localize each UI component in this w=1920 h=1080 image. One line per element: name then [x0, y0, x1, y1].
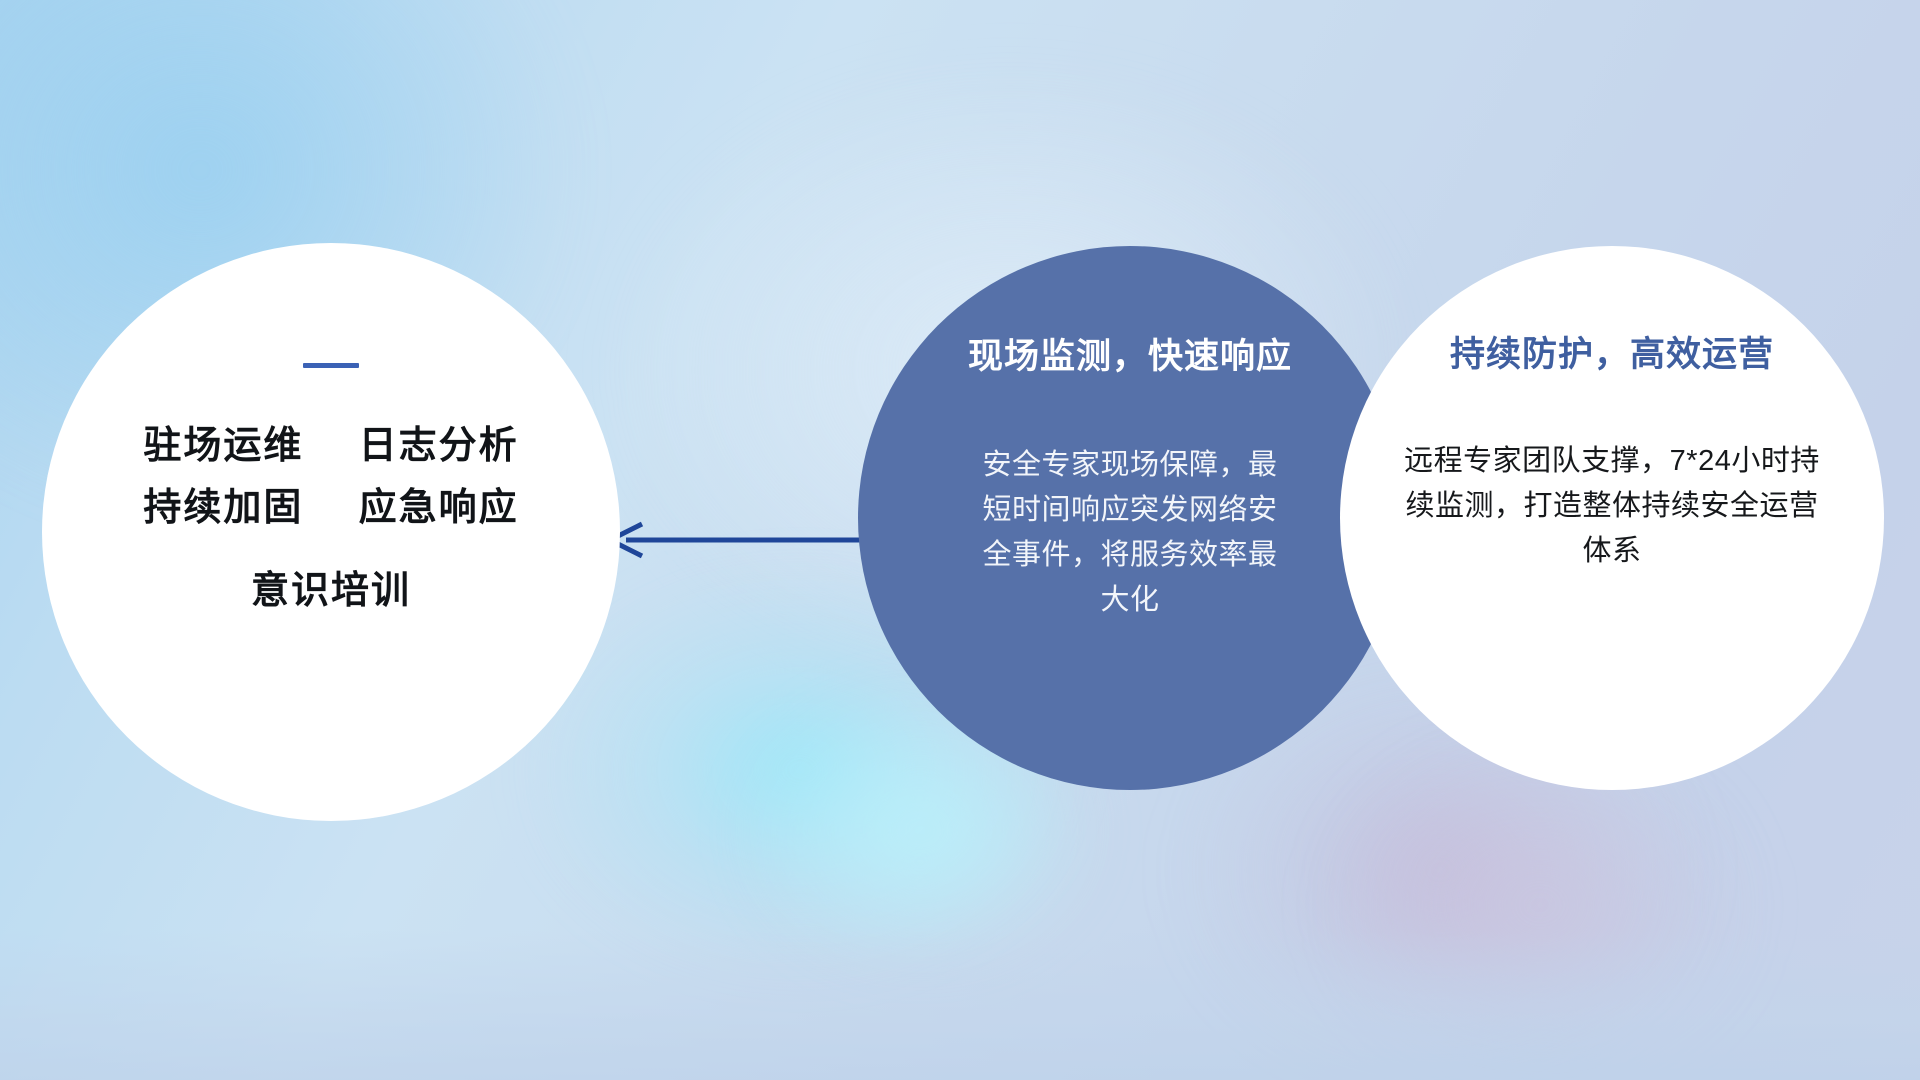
left-arrow-icon: [600, 518, 880, 562]
left-circle-content: 驻场运维 日志分析 持续加固 应急响应 意识培训: [42, 363, 620, 623]
right-circle-body: 远程专家团队支撑，7*24小时持续监测，打造整体持续安全运营体系: [1397, 439, 1827, 574]
right-circle-content: 持续防护，高效运营 远程专家团队支撑，7*24小时持续监测，打造整体持续安全运营…: [1364, 246, 1860, 790]
right-circle-title: 持续防护，高效运营: [1450, 326, 1774, 377]
keyword-label: 日志分析: [359, 425, 519, 467]
capability-circle-right: 持续防护，高效运营 远程专家团队支撑，7*24小时持续监测，打造整体持续安全运营…: [1340, 246, 1884, 790]
middle-circle-body: 安全专家现场保障，最短时间响应突发网络安全事件，将服务效率最大化: [970, 443, 1290, 623]
background-bottom-band: [0, 930, 1920, 1080]
capability-circle-left: 驻场运维 日志分析 持续加固 应急响应 意识培训: [42, 243, 620, 821]
keyword-label: 持续加固: [143, 487, 303, 529]
keyword-label: 应急响应: [359, 487, 519, 529]
middle-circle-title: 现场监测，快速响应: [968, 328, 1292, 379]
keyword-row-2: 持续加固 应急响应: [42, 478, 620, 540]
keyword-row-3: 意识培训: [42, 561, 620, 623]
keyword-label: 意识培训: [251, 570, 411, 612]
middle-circle-content: 现场监测，快速响应 安全专家现场保障，最短时间响应突发网络安全事件，将服务效率最…: [886, 246, 1374, 790]
keyword-label: 驻场运维: [143, 425, 303, 467]
capability-circle-middle: 现场监测，快速响应 安全专家现场保障，最短时间响应突发网络安全事件，将服务效率最…: [858, 246, 1402, 790]
horizontal-dash-icon: [303, 363, 359, 368]
keyword-row-1: 驻场运维 日志分析: [42, 416, 620, 478]
